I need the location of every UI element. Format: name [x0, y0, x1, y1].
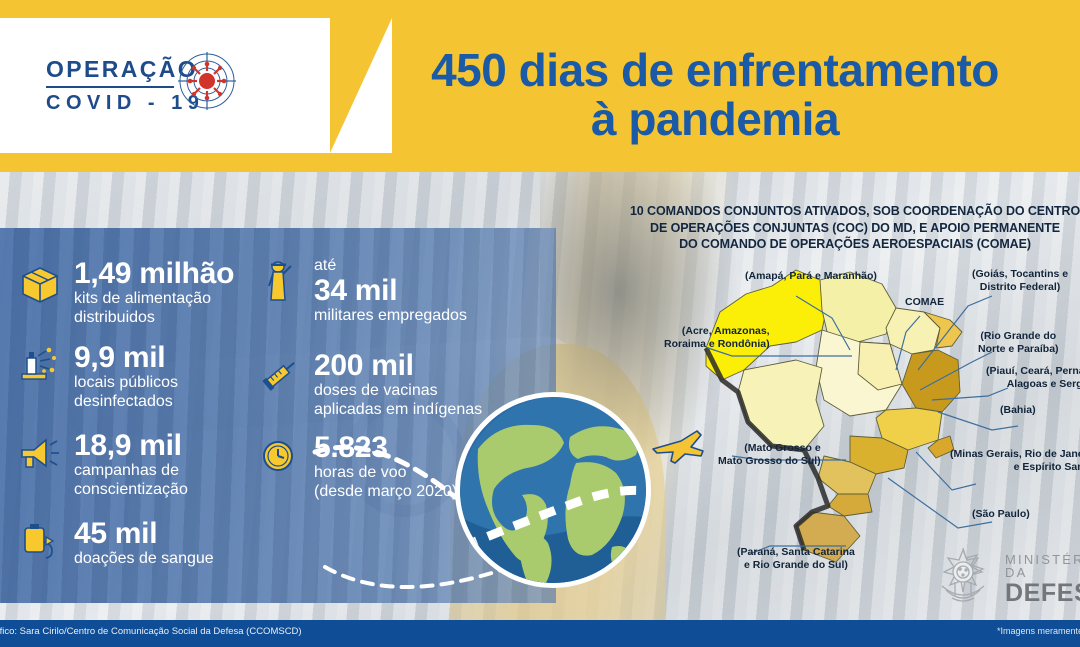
- map-label-piaui-ceara-pernambuco-alagoas-sergipe: (Piauí, Ceará, Pernambuco, Alagoas e Ser…: [986, 365, 1080, 391]
- infographic-root: OPERAÇÃO COVID - 19: [0, 0, 1080, 647]
- virus-target-icon: [178, 52, 236, 110]
- logo-divider: [46, 86, 174, 88]
- footer-credit: Infográfico: Sara Cirilo/Centro de Comun…: [0, 626, 302, 637]
- stat-value: 1,49 milhão: [74, 258, 234, 290]
- label-line-2: Roraima e Rondônia): [664, 338, 770, 351]
- label-line-1: (Acre, Amazonas,: [664, 325, 770, 338]
- ministry-line-1: MINISTÉRIO DA: [1005, 553, 1080, 579]
- label-line-1: COMAE: [905, 296, 944, 309]
- map-label-minas-rio-espirito-santo: (Minas Gerais, Rio de Janeiro e Espírito…: [950, 448, 1080, 474]
- title-line-2: à pandemia: [350, 95, 1080, 144]
- logo-operacao-text: OPERAÇÃO: [46, 58, 286, 81]
- ministry-line-2: DEFESA: [1005, 581, 1080, 606]
- map-label-acre-amazonas-roraima-rondonia: (Acre, Amazonas, Roraima e Rondônia): [664, 325, 770, 351]
- map-label-amapa-para-maranhao: (Amapá, Pará e Maranhão): [745, 270, 877, 283]
- label-line-1: (Amapá, Pará e Maranhão): [745, 270, 877, 283]
- operation-logo: OPERAÇÃO COVID - 19: [46, 58, 286, 113]
- stat-value: 9,9 mil: [74, 342, 178, 374]
- map-label-sao-paulo: (São Paulo): [972, 508, 1030, 521]
- map-label-parana-santa-catarina-rs: (Paraná, Santa Catarina e Rio Grande do …: [737, 546, 855, 572]
- label-line-1: (Paraná, Santa Catarina: [737, 546, 855, 559]
- stat-item-food-kits: 1,49 milhão kits de alimentação distribu…: [18, 258, 234, 328]
- stat-label-1: kits de alimentação: [74, 290, 234, 309]
- title-line-1: 450 dias de enfrentamento: [431, 44, 999, 96]
- label-line-1: (Piauí, Ceará, Pernambuco,: [986, 365, 1080, 378]
- label-line-2: Alagoas e Sergipe): [986, 378, 1080, 391]
- stat-item-vaccine-doses: 200 mil doses de vacinas aplicadas em in…: [258, 350, 482, 420]
- stat-value: 5.823: [314, 432, 457, 464]
- brazil-coat-of-arms-icon: [930, 546, 996, 612]
- megaphone-icon: [18, 432, 62, 476]
- stat-label-1: doações de sangue: [74, 550, 214, 569]
- header-band: OPERAÇÃO COVID - 19: [0, 0, 1080, 172]
- syringe-icon: [258, 352, 302, 396]
- map-label-rio-grande-do-norte-paraiba: (Rio Grande do Norte e Paraíba): [978, 330, 1059, 356]
- label-line-1: (Mato Grosso e: [718, 442, 821, 455]
- ministry-of-defense-logo: MINISTÉRIO DA DEFESA: [930, 540, 1080, 618]
- clock-icon: [258, 434, 302, 478]
- stat-label-1: locais públicos: [74, 374, 178, 393]
- page-title: 450 dias de enfrentamento à pandemia: [350, 46, 1080, 144]
- label-line-2: Distrito Federal): [972, 281, 1068, 294]
- stat-value: 18,9 mil: [74, 430, 188, 462]
- stat-item-military-employed: até 34 mil militares empregados: [258, 258, 467, 326]
- map-heading-line-2: DE OPERAÇÕES CONJUNTAS (COC) DO MD, E AP…: [620, 220, 1080, 237]
- map-label-comae: COMAE: [905, 296, 944, 309]
- stat-pre: até: [314, 258, 467, 275]
- label-line-2: Mato Grosso do Sul): [718, 455, 821, 468]
- food-box-icon: [18, 260, 62, 304]
- label-line-2: Norte e Paraíba): [978, 343, 1059, 356]
- label-line-1: (Minas Gerais, Rio de Janeiro: [950, 448, 1080, 461]
- stat-label-2: (desde março 2020): [314, 483, 457, 502]
- stat-item-blood-donations: 45 mil doações de sangue: [18, 518, 214, 569]
- blood-bag-icon: [18, 520, 62, 564]
- label-line-1: (Goiás, Tocantins e: [972, 268, 1068, 281]
- disinfect-icon: [18, 344, 62, 388]
- footer-disclaimer: *Imagens meramente ilustrativas: [997, 626, 1080, 636]
- stat-label-2: conscientização: [74, 481, 188, 500]
- stat-value: 34 mil: [314, 275, 467, 307]
- map-label-goias-tocantins-df: (Goiás, Tocantins e Distrito Federal): [972, 268, 1068, 294]
- stat-label-2: distribuidos: [74, 309, 234, 328]
- footer-bar: Infográfico: Sara Cirilo/Centro de Comun…: [0, 620, 1080, 647]
- stat-item-awareness-campaigns: 18,9 mil campanhas de conscientização: [18, 430, 188, 500]
- stat-value: 45 mil: [74, 518, 214, 550]
- label-line-1: (Bahia): [1000, 404, 1036, 417]
- stat-label-1: horas de voo: [314, 464, 457, 483]
- label-line-1: (Rio Grande do: [978, 330, 1059, 343]
- map-label-mato-grosso: (Mato Grosso e Mato Grosso do Sul): [718, 442, 821, 468]
- stat-label-2: desinfectados: [74, 393, 178, 412]
- map-heading-line-1: 10 COMANDOS CONJUNTOS ATIVADOS, SOB COOR…: [620, 203, 1080, 220]
- stat-item-flight-hours: 5.823 horas de voo (desde março 2020): [258, 432, 457, 502]
- label-line-2: e Espírito Santo): [950, 461, 1080, 474]
- logo-covid-text: COVID - 19: [46, 93, 286, 113]
- ministry-text: MINISTÉRIO DA DEFESA: [1005, 553, 1080, 606]
- soldier-icon: [258, 260, 302, 304]
- stat-value: 200 mil: [314, 350, 482, 382]
- stat-item-disinfected-places: 9,9 mil locais públicos desinfectados: [18, 342, 178, 412]
- map-label-bahia: (Bahia): [1000, 404, 1036, 417]
- label-line-2: e Rio Grande do Sul): [737, 559, 855, 572]
- label-line-1: (São Paulo): [972, 508, 1030, 521]
- stat-label-1: militares empregados: [314, 307, 467, 326]
- stat-label-1: campanhas de: [74, 462, 188, 481]
